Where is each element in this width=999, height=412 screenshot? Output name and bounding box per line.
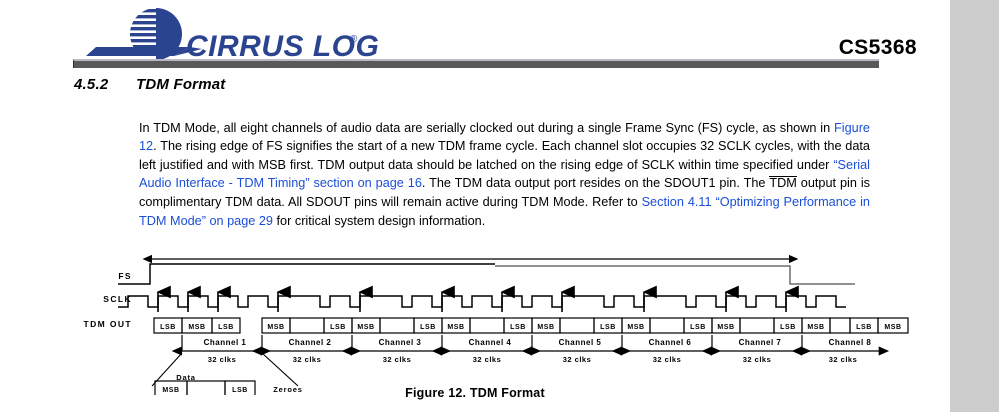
bit-label-lsb: LSB <box>218 324 234 331</box>
channel-label: Channel 4 <box>469 338 512 347</box>
bit-label-lsb: LSB <box>510 324 526 331</box>
bit-label-msb: MSB <box>537 324 554 331</box>
channel-label: Channel 6 <box>649 338 692 347</box>
section-title: TDM Format <box>136 76 226 93</box>
body-paragraph: In TDM Mode, all eight channels of audio… <box>139 119 870 231</box>
tdm-overline-text: TDM <box>769 176 796 190</box>
page-gutter <box>950 0 999 412</box>
timing-diagram-figure: FS SCLK TDM OUT <box>0 250 950 395</box>
channel-labels: Channel 1 Channel 2 Channel 3 Channel 4 … <box>204 338 872 347</box>
channel-label: Channel 3 <box>379 338 422 347</box>
body-text-5: for critical system design information. <box>273 214 485 228</box>
channel-label: Channel 2 <box>289 338 332 347</box>
bit-label-msb: MSB <box>627 324 644 331</box>
bit-label-msb: MSB <box>717 324 734 331</box>
slot-duration-label: 32 clks <box>563 355 592 364</box>
slot-duration-label: 32 clks <box>743 355 772 364</box>
bit-label-msb: MSB <box>267 324 284 331</box>
bit-label-msb: MSB <box>357 324 374 331</box>
cirrus-logic-globe-logo: CIRRUS LOGIC ® <box>78 6 378 62</box>
fs-waveform <box>118 264 855 284</box>
channel-label: Channel 5 <box>559 338 602 347</box>
slot-duration-label: 32 clks <box>208 355 237 364</box>
bit-label-msb: MSB <box>884 324 901 331</box>
figure-caption: Figure 12. TDM Format <box>0 386 950 400</box>
channel-label: Channel 7 <box>739 338 782 347</box>
timing-waveforms: LSB MSB LSB MSB LSB MSB LSB MSB LSB MSB … <box>0 250 950 395</box>
tdm-bit-labels: LSB MSB LSB MSB LSB MSB LSB MSB LSB MSB … <box>160 324 902 331</box>
slot-duration-label: 32 clks <box>829 355 858 364</box>
slot-duration-labels: 32 clks 32 clks 32 clks 32 clks 32 clks … <box>208 355 858 364</box>
body-text-3: . The TDM data output port resides on th… <box>422 176 769 190</box>
bit-label-msb: MSB <box>188 324 205 331</box>
bit-label-lsb: LSB <box>160 324 176 331</box>
slot-duration-label: 32 clks <box>293 355 322 364</box>
bit-label-msb: MSB <box>807 324 824 331</box>
bit-label-lsb: LSB <box>690 324 706 331</box>
sclk-waveform <box>118 296 846 307</box>
part-number: CS5368 <box>839 36 917 60</box>
body-text-2: . The rising edge of FS signifies the st… <box>139 139 870 172</box>
bit-label-lsb: LSB <box>420 324 436 331</box>
slot-duration-label: 32 clks <box>473 355 502 364</box>
section-heading: 4.5.2TDM Format <box>74 76 226 93</box>
bit-label-lsb: LSB <box>330 324 346 331</box>
header-rule <box>73 59 879 68</box>
slot-duration-label: 32 clks <box>383 355 412 364</box>
brand-registered-mark: ® <box>350 34 358 45</box>
bit-label-msb: MSB <box>447 324 464 331</box>
section-number: 4.5.2 <box>74 76 136 93</box>
channel-label: Channel 1 <box>204 338 247 347</box>
channel-label: Channel 8 <box>829 338 872 347</box>
slot-duration-label: 32 clks <box>653 355 682 364</box>
bit-label-lsb: LSB <box>600 324 616 331</box>
body-text-1: In TDM Mode, all eight channels of audio… <box>139 121 834 135</box>
document-page: CIRRUS LOGIC ® CS5368 4.5.2TDM Format In… <box>0 0 999 412</box>
bit-label-lsb: LSB <box>856 324 872 331</box>
bit-label-lsb: LSB <box>780 324 796 331</box>
